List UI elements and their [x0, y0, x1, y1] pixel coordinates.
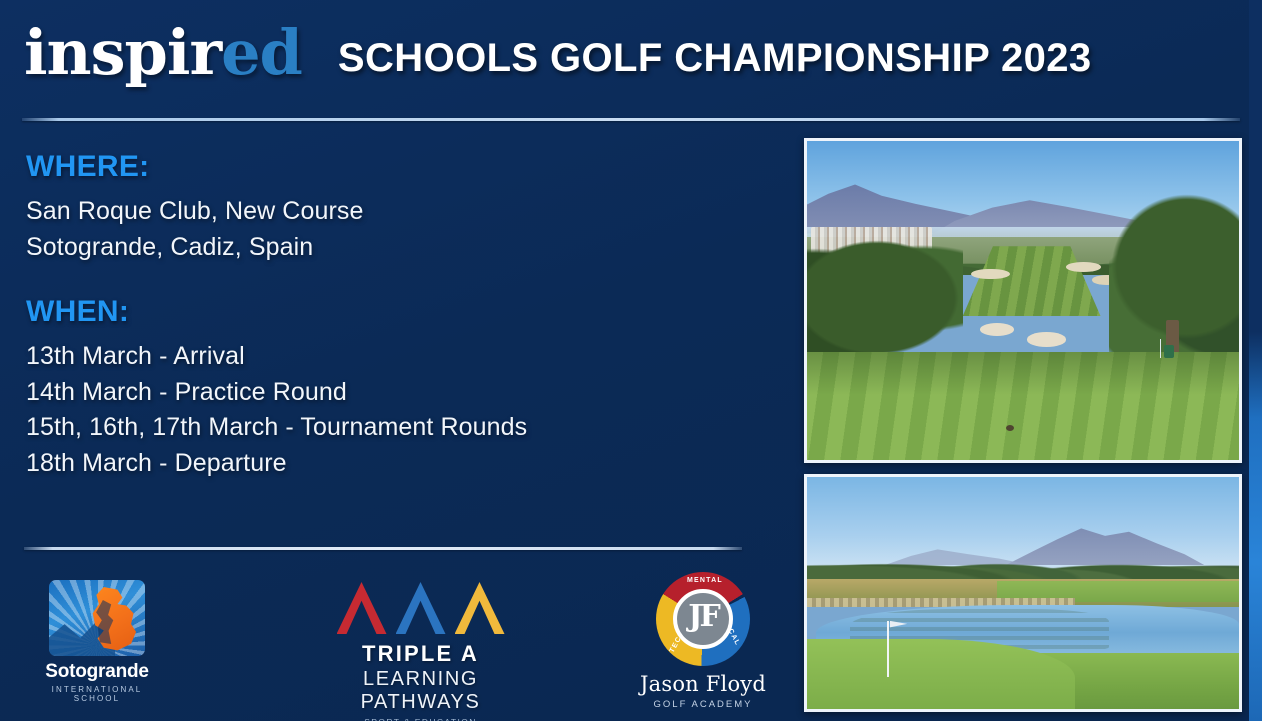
triple-a-name: TRIPLE A: [318, 641, 523, 667]
logo-text-white: inspir: [24, 16, 221, 89]
photo-fairway-scene: [807, 141, 1239, 460]
jason-floyd-subtitle: GOLF ACADEMY: [638, 699, 768, 710]
chevron-red-icon: [337, 582, 387, 634]
schedule-item: 14th March - Practice Round: [26, 375, 766, 411]
header-divider: [22, 118, 1240, 121]
photo-fairway: Golf course fairway with mountain backdr…: [804, 138, 1242, 463]
photo-lake: Golf green beside a lake with flagstick: [804, 474, 1242, 712]
where-heading: WHERE:: [26, 150, 766, 184]
chevron-blue-icon: [396, 582, 446, 634]
where-section: WHERE: San Roque Club, New Course Sotogr…: [26, 150, 766, 265]
jf-monogram: JF: [688, 602, 718, 632]
jf-monogram-circle: JF: [673, 589, 733, 649]
triple-a-subtitle: LEARNING PATHWAYS: [318, 668, 523, 714]
where-line-1: San Roque Club, New Course: [26, 194, 766, 230]
chevron-group-icon: [318, 578, 523, 634]
tree-left: [804, 224, 963, 358]
triple-a-logo: TRIPLE A LEARNING PATHWAYS SPORT & EDUCA…: [318, 578, 523, 721]
poster-header: inspired SCHOOLS GOLF CHAMPIONSHIP 2023: [0, 0, 1262, 112]
sotogrande-name: Sotogrande: [33, 661, 161, 683]
sotogrande-subtitle: INTERNATIONAL SCHOOL: [33, 685, 161, 703]
sotogrande-mark-icon: [49, 580, 145, 656]
footer-divider: [24, 547, 742, 550]
ball-washer: [1164, 345, 1174, 358]
bunker: [1027, 332, 1066, 346]
schedule-list: 13th March - Arrival 14th March - Practi…: [26, 339, 766, 481]
sotogrande-logo: Sotogrande INTERNATIONAL SCHOOL: [33, 580, 161, 703]
segment-label-mental: MENTAL: [687, 577, 723, 584]
jason-floyd-logo: MENTAL TECHNIQUE PHYSICAL JF Jason Floyd…: [638, 572, 768, 710]
when-heading: WHEN:: [26, 295, 766, 329]
flagstick: [887, 621, 889, 677]
where-line-2: Sotogrande, Cadiz, Spain: [26, 230, 766, 266]
photo-lake-scene: [807, 477, 1239, 709]
when-section: WHEN: 13th March - Arrival 14th March - …: [26, 295, 766, 481]
jason-floyd-name: Jason Floyd: [638, 672, 768, 696]
poster-root: inspired SCHOOLS GOLF CHAMPIONSHIP 2023 …: [0, 0, 1262, 721]
details-panel: WHERE: San Roque Club, New Course Sotogr…: [26, 150, 766, 511]
triple-a-tagline: SPORT & EDUCATION: [318, 717, 523, 721]
schedule-item: 18th March - Departure: [26, 446, 766, 482]
bunker: [980, 323, 1015, 336]
page-title: SCHOOLS GOLF CHAMPIONSHIP 2023: [338, 36, 1092, 81]
bunker: [1066, 262, 1101, 272]
schedule-item: 15th, 16th, 17th March - Tournament Roun…: [26, 410, 766, 446]
sponsor-logos: Sotogrande INTERNATIONAL SCHOOL TRIPLE A…: [0, 568, 790, 718]
jf-badge-icon: MENTAL TECHNIQUE PHYSICAL JF: [656, 572, 750, 666]
right-edge-accent: [1249, 0, 1262, 721]
inspired-logo: inspired: [24, 22, 302, 84]
schedule-item: 13th March - Arrival: [26, 339, 766, 375]
chevron-yellow-icon: [455, 582, 505, 634]
foreground-shadow: [807, 352, 1239, 460]
logo-text-blue: ed: [221, 16, 302, 89]
marker-post: [1160, 339, 1161, 358]
